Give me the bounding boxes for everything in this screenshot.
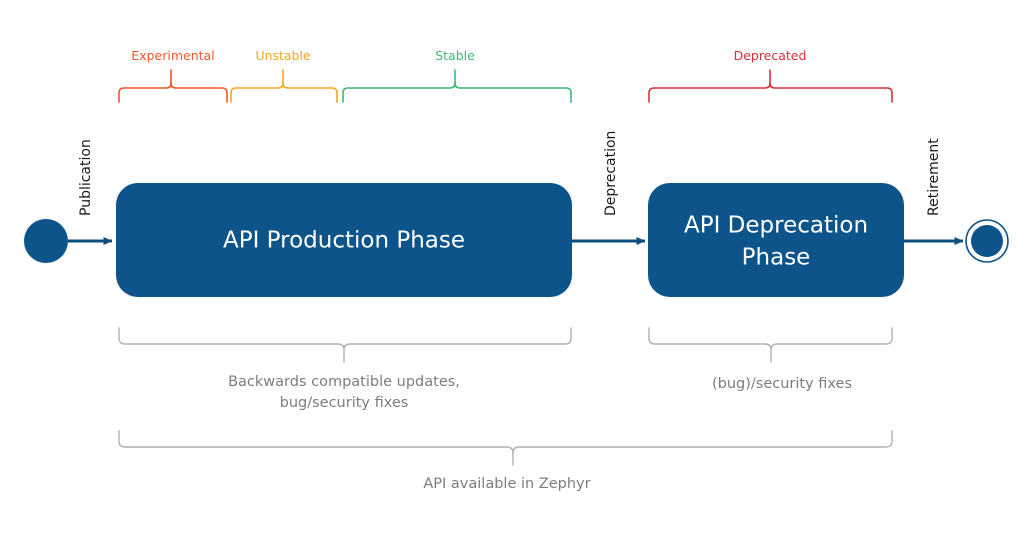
maturity-brace-experimental: Experimental: [119, 48, 227, 102]
support-label-availability: API available in Zephyr: [423, 476, 590, 492]
support-brace-availability: API available in Zephyr: [119, 431, 892, 492]
maturity-label-deprecated: Deprecated: [734, 48, 807, 63]
api-deprecation-phase-label-line1: API Deprecation: [684, 213, 868, 239]
maturity-label-experimental: Experimental: [131, 48, 214, 63]
api-production-phase-label: API Production Phase: [223, 228, 465, 254]
lifecycle-svg-canvas: Experimental Unstable Stable Deprecated …: [0, 0, 1036, 537]
end-node[interactable]: [966, 220, 1008, 262]
api-deprecation-phase-label-line2: Phase: [742, 245, 811, 271]
api-deprecation-phase[interactable]: [648, 183, 904, 297]
maturity-label-unstable: Unstable: [255, 48, 311, 63]
support-brace-deprecation: (bug)/security fixes: [649, 328, 892, 392]
maturity-label-stable: Stable: [435, 48, 475, 63]
maturity-brace-stable: Stable: [343, 48, 571, 102]
support-brace-production: Backwards compatible updates, bug/securi…: [119, 328, 571, 411]
transition-label-publication: Publication: [78, 139, 94, 216]
support-label-deprecation-line1: (bug)/security fixes: [712, 376, 852, 392]
maturity-brace-unstable: Unstable: [231, 48, 337, 102]
start-node[interactable]: [24, 219, 68, 263]
transition-label-retirement: Retirement: [926, 138, 942, 216]
maturity-brace-deprecated: Deprecated: [649, 48, 892, 102]
support-label-production-line2: bug/security fixes: [280, 395, 409, 411]
support-label-production-line1: Backwards compatible updates,: [228, 374, 460, 390]
api-lifecycle-diagram: Experimental Unstable Stable Deprecated …: [0, 0, 1036, 537]
transition-label-deprecation: Deprecation: [603, 131, 619, 216]
